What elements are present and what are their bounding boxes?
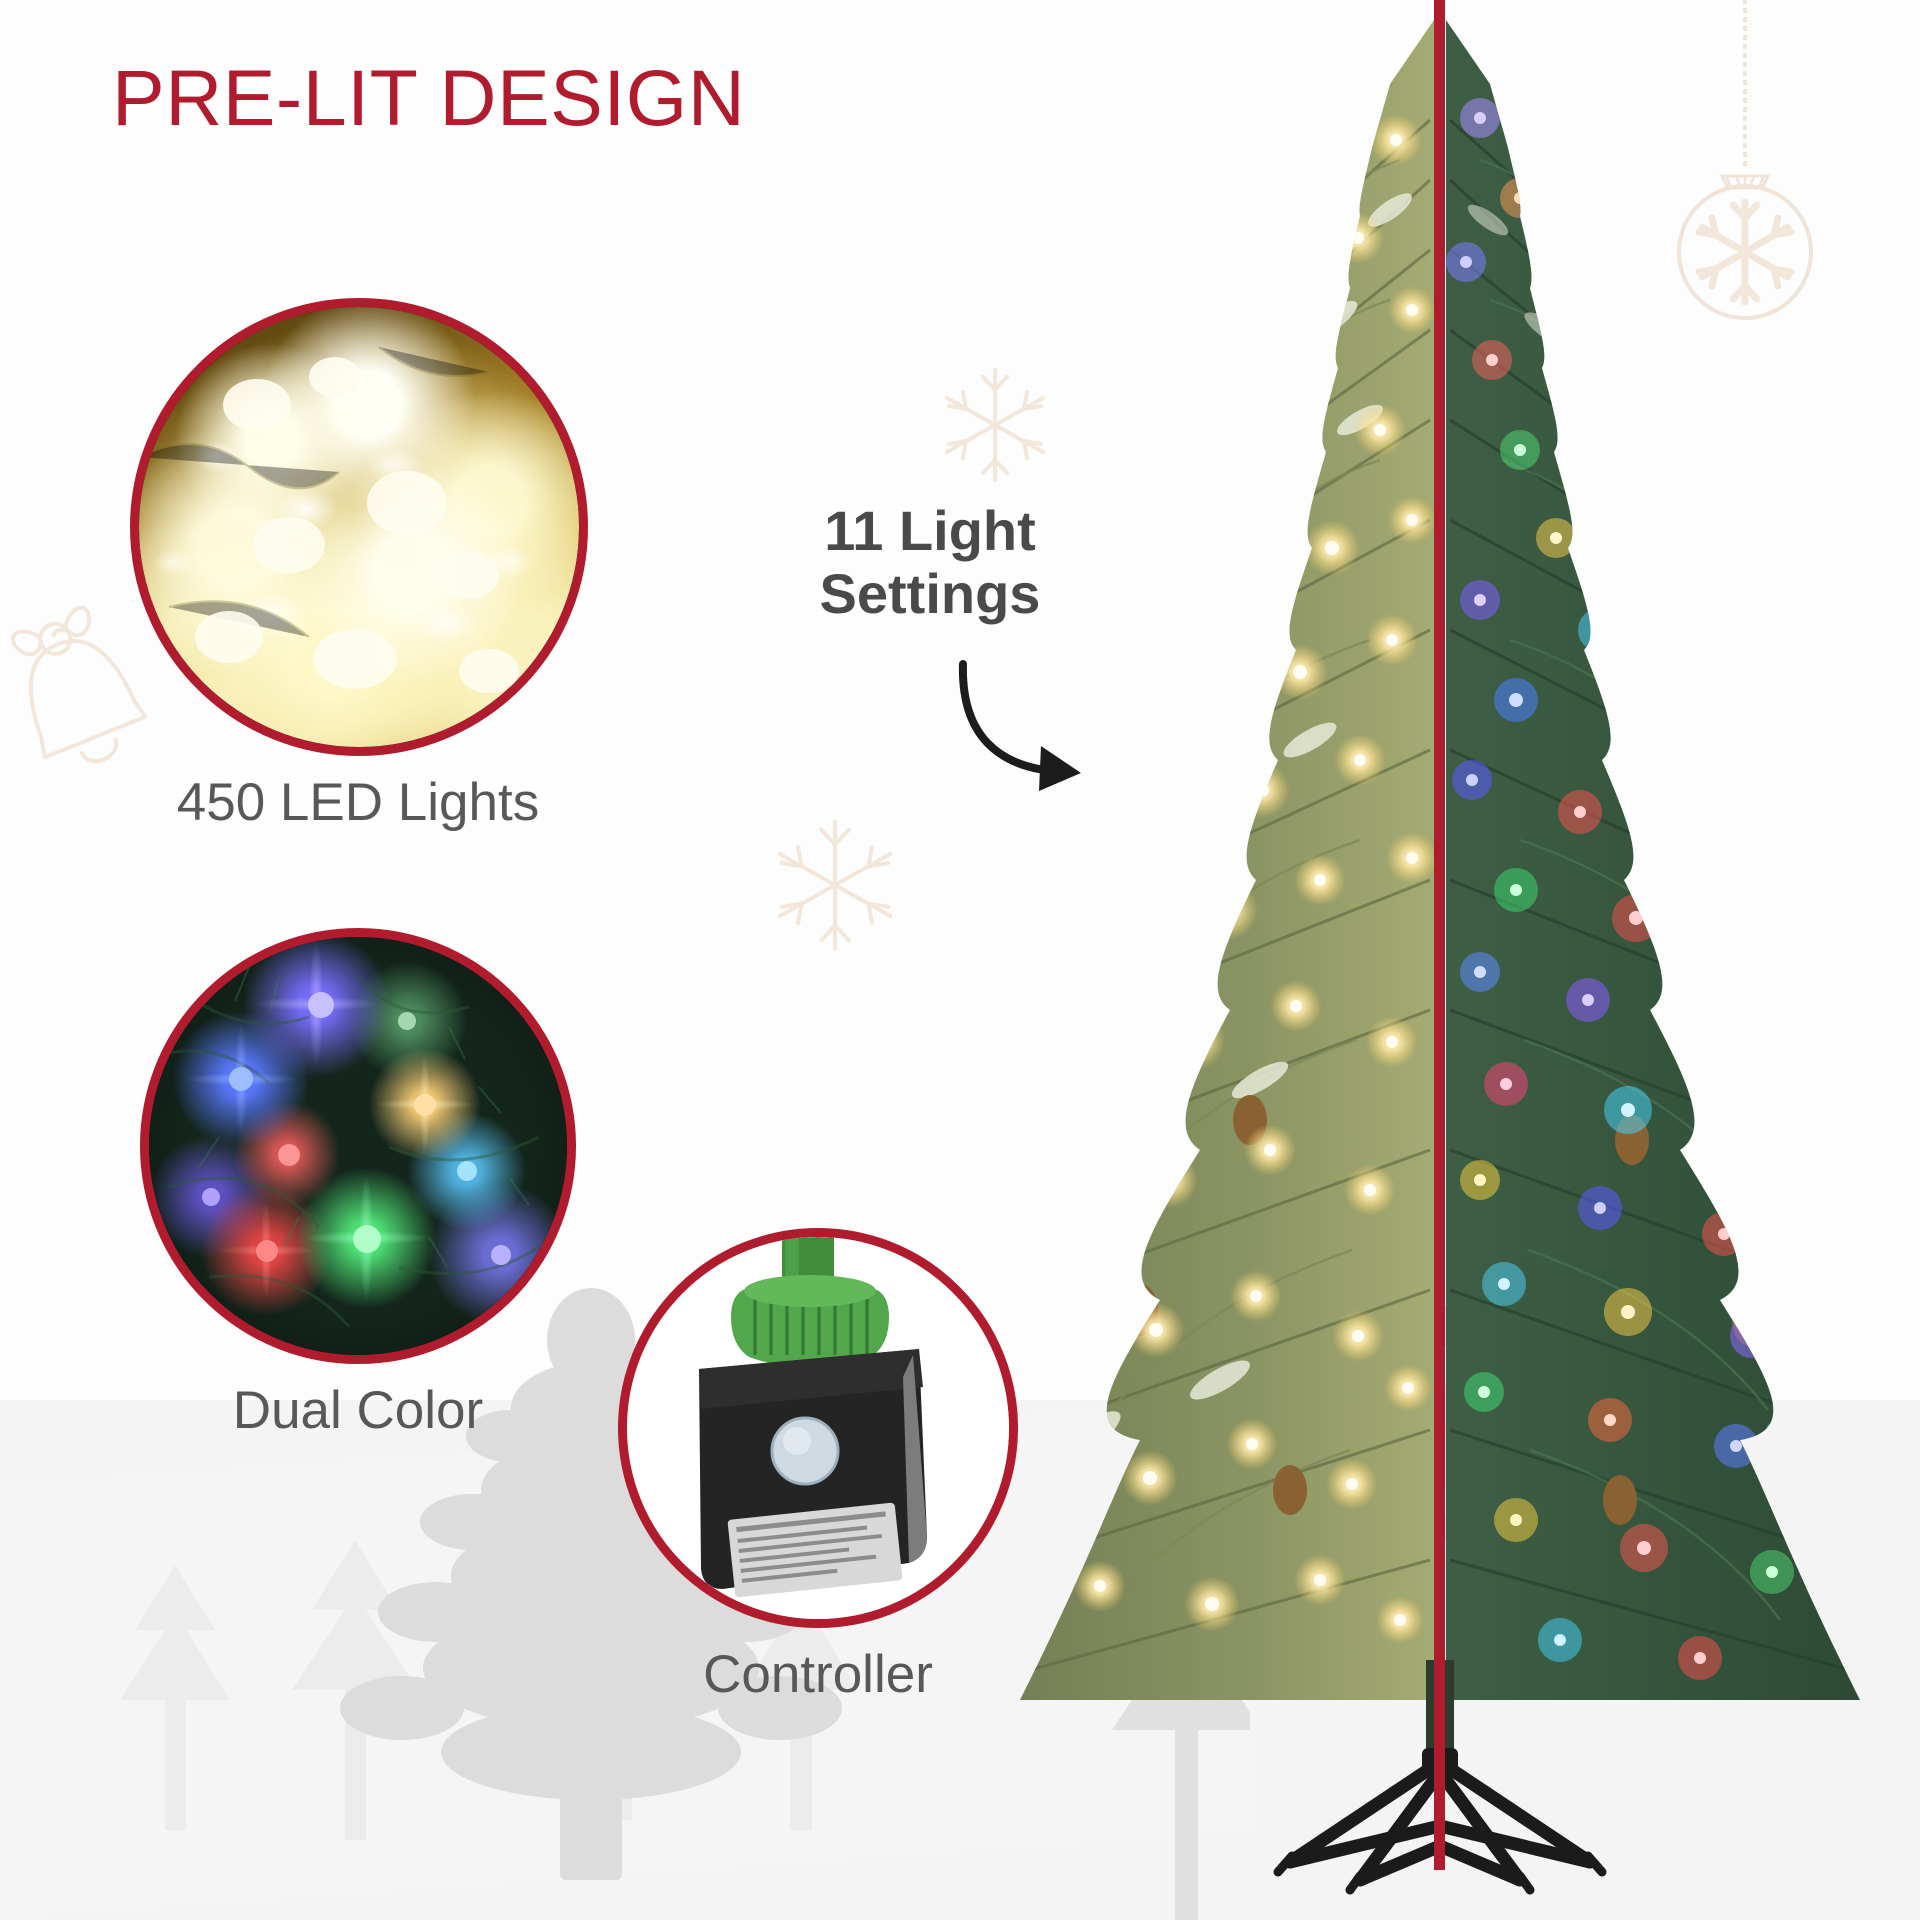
infographic-canvas: PRE-LIT DESIGN bbox=[0, 0, 1920, 1920]
tree-multicolor-half bbox=[1440, 0, 1920, 1920]
feature-caption: Dual Color bbox=[130, 1380, 586, 1441]
light-controller-photo bbox=[618, 1228, 1018, 1628]
page-title: PRE-LIT DESIGN bbox=[112, 58, 745, 137]
vertical-red-split-line bbox=[1434, 0, 1445, 1870]
feature-led-lights: 450 LED Lights bbox=[130, 298, 586, 833]
snowflake-icon bbox=[0, 1455, 130, 1620]
multicolor-led-closeup-photo bbox=[140, 928, 576, 1364]
feature-caption: 450 LED Lights bbox=[130, 772, 586, 833]
snowflake-icon bbox=[760, 810, 910, 965]
feature-dual-color: Dual Color bbox=[130, 928, 586, 1441]
warm-led-closeup-photo bbox=[130, 298, 588, 756]
snowflake-dot-icon bbox=[85, 1580, 115, 1615]
tree-warm-half bbox=[960, 0, 1440, 1920]
